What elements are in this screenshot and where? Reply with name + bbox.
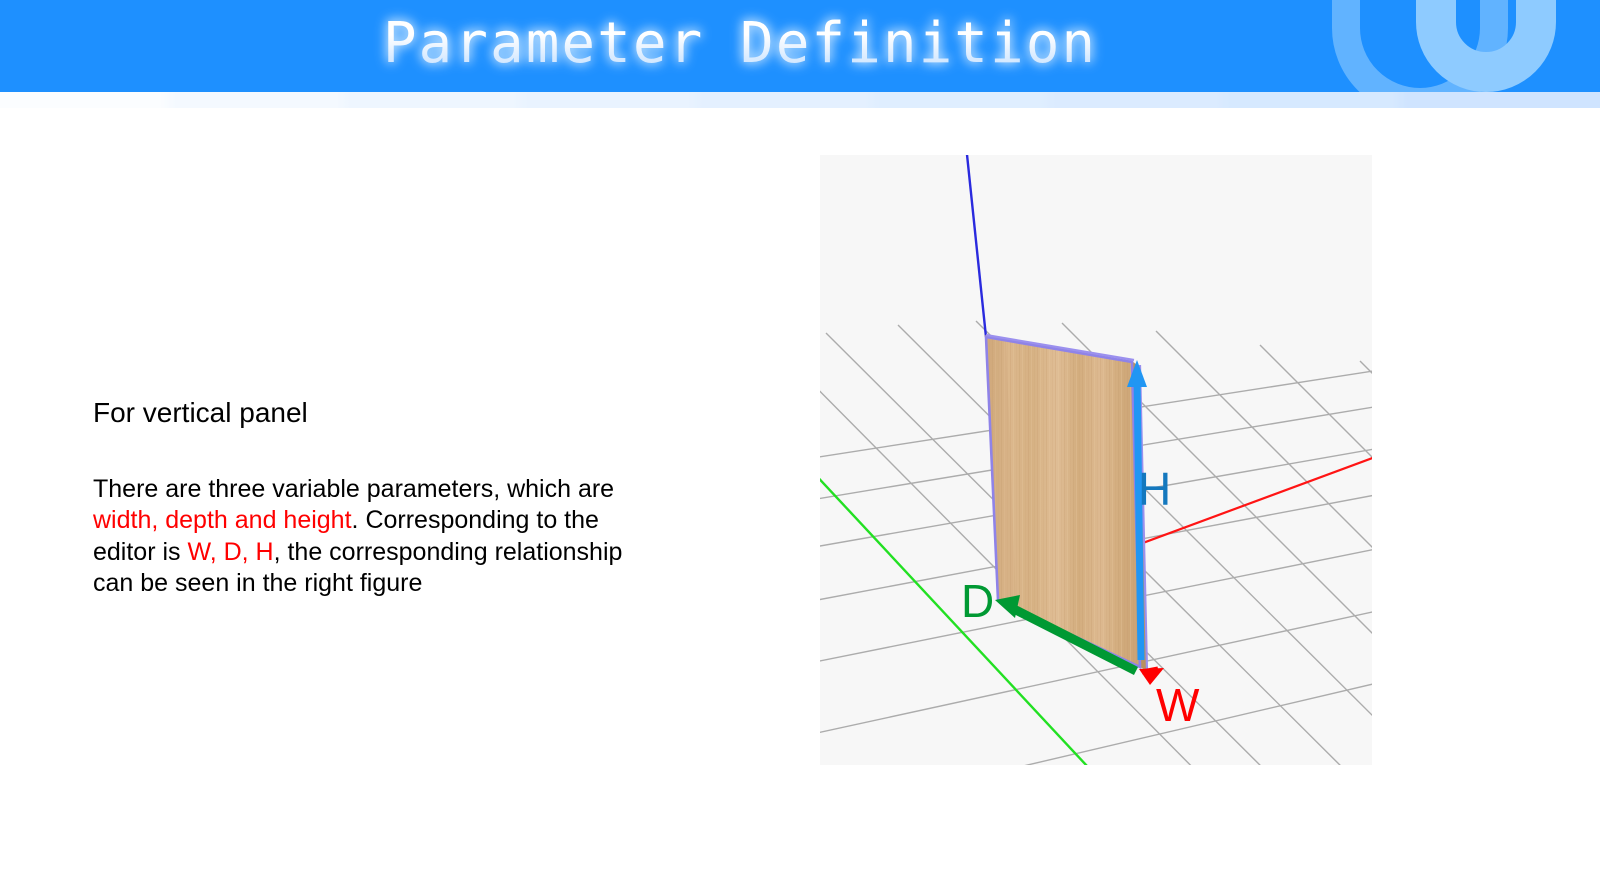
depth-axis-label: D [961,575,994,627]
section-heading: For vertical panel [93,396,693,430]
height-axis-label: H [1138,463,1171,515]
paragraph-highlight-params: width, depth and height [93,506,352,534]
figure-3d-viewport: H D W [820,155,1372,765]
page-title: Parameter Definition [0,0,1480,92]
header-underline-gradient [0,92,1600,108]
width-axis-label: W [1156,679,1200,731]
text-column: For vertical panel There are three varia… [93,396,693,600]
header-banner: Parameter Definition [0,0,1600,92]
paragraph-segment-1: There are three variable parameters, whi… [93,475,614,503]
paragraph-highlight-wdh: W, D, H [187,538,273,566]
description-paragraph: There are three variable parameters, whi… [93,474,648,600]
brand-u-logo-icon [1328,0,1600,92]
